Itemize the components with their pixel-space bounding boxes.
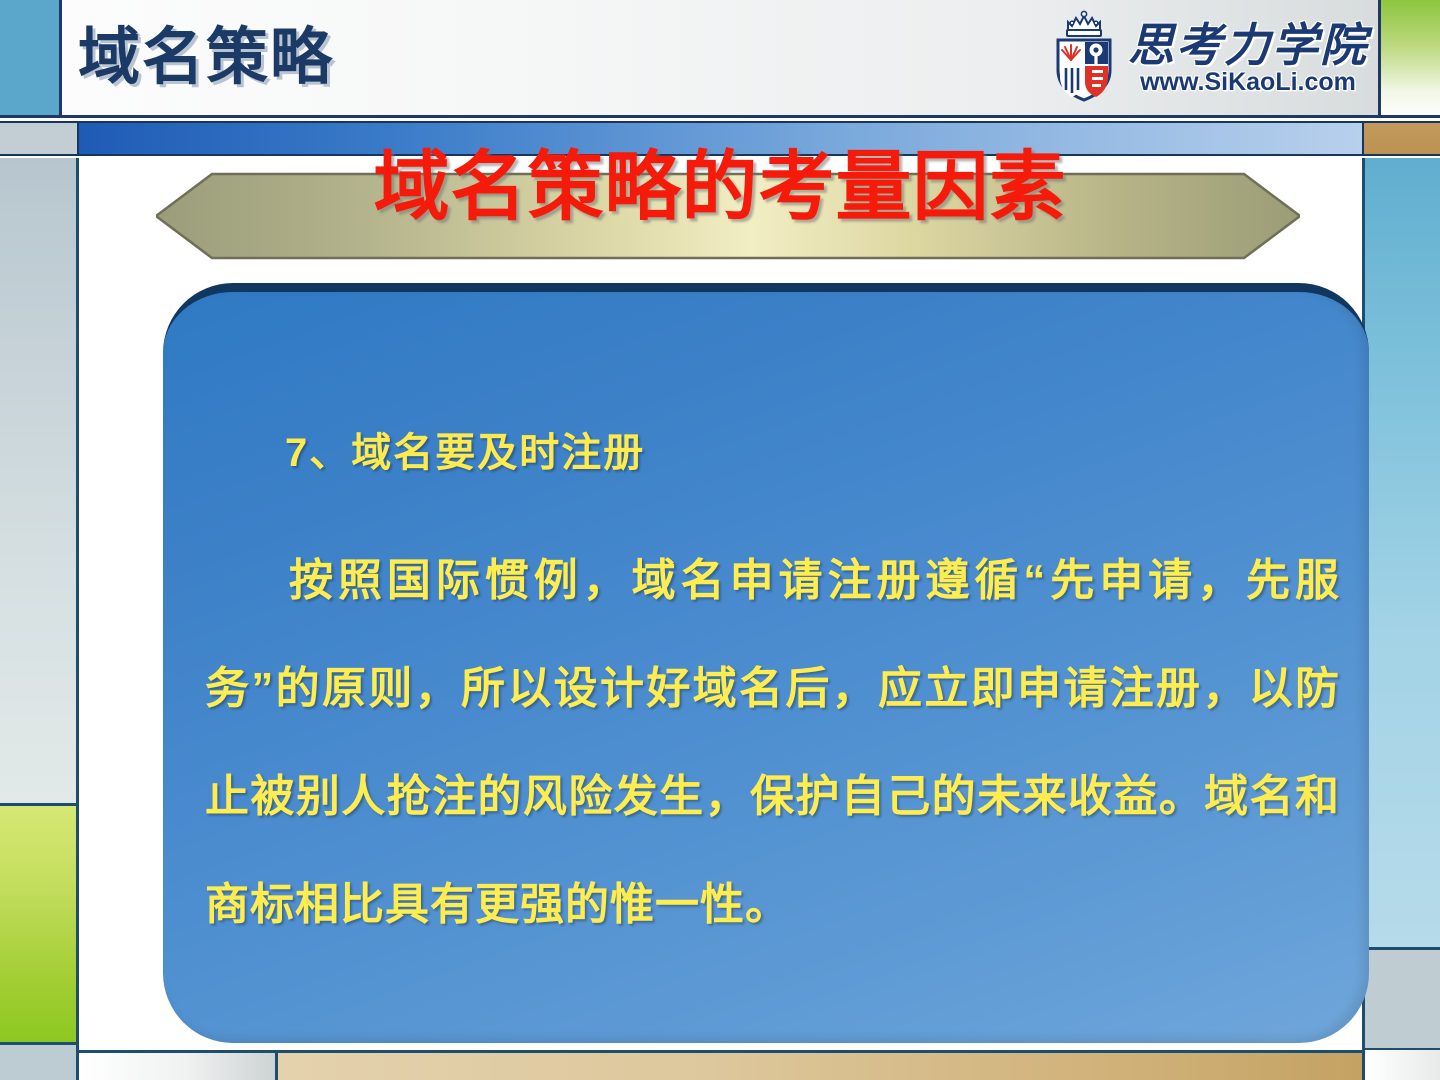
left-decor-panel-gray	[0, 158, 79, 806]
brand-url: www.SiKaoLi.com	[1140, 70, 1356, 95]
crest-shield-icon	[1048, 8, 1120, 109]
footer-gold-bar	[278, 1050, 1362, 1080]
slide-canvas: 域名策略	[0, 0, 1440, 1080]
right-decor-panel-blue	[1362, 158, 1440, 950]
brand-logo: 思考力学院 www.SiKaoLi.com	[1048, 4, 1368, 112]
left-decor-panel-bottom	[0, 1045, 79, 1080]
right-decor-panel-bottom	[1362, 1050, 1440, 1080]
brand-name-cn: 思考力学院	[1128, 22, 1368, 68]
header-right-accent-block	[1378, 0, 1440, 115]
left-decor-panel-green	[0, 806, 79, 1045]
content-heading: 7、域名要及时注册	[285, 425, 1355, 481]
footer-left-pad	[79, 1050, 278, 1080]
section-banner-title: 域名策略的考量因素	[0, 140, 1440, 236]
header-left-accent-block	[0, 0, 62, 115]
brand-text: 思考力学院 www.SiKaoLi.com	[1128, 22, 1368, 95]
page-title: 域名策略	[78, 8, 334, 108]
content-paragraph: 按照国际惯例，域名申请注册遵循“先申请，先服务”的原则，所以设计好域名后，应立即…	[205, 527, 1340, 959]
right-decor-panel-gray	[1362, 950, 1440, 1050]
content-text-block: 7、域名要及时注册 按照国际惯例，域名申请注册遵循“先申请，先服务”的原则，所以…	[205, 425, 1355, 959]
